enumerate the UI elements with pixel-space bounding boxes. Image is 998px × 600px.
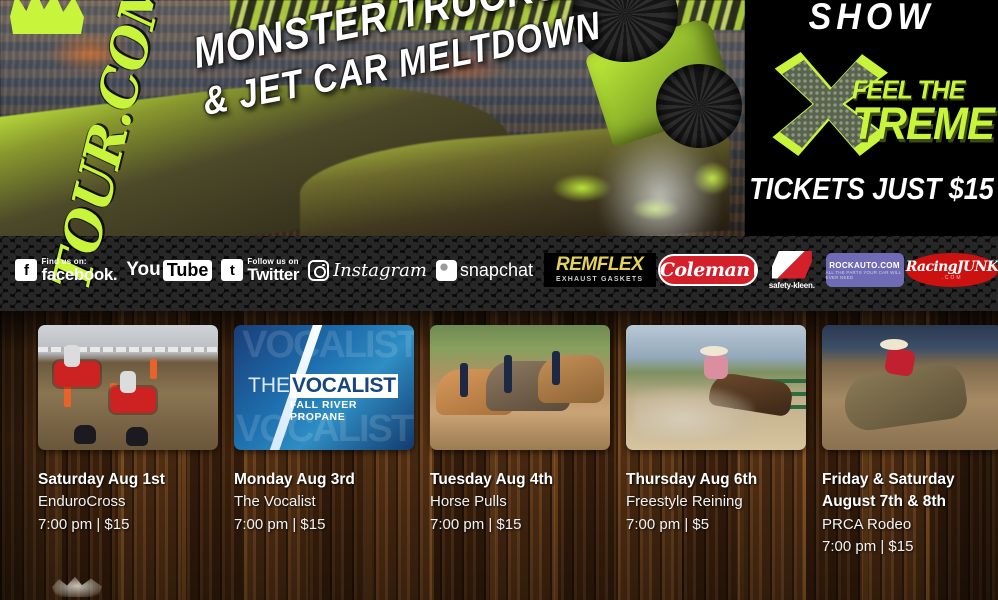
event-name: PRCA Rodeo <box>822 514 998 537</box>
cowboy-hat-icon <box>880 339 908 350</box>
sponsor-racingjunk[interactable]: RacingJUNK .COM <box>906 253 998 287</box>
safety-kleen-name: safety-kleen. <box>769 281 815 290</box>
rider-shirt-icon <box>704 355 728 379</box>
dust-cloud <box>634 387 754 439</box>
instagram-label: Instagram <box>333 260 427 281</box>
youtube-you-text: You <box>126 259 160 281</box>
green-splash-icon <box>10 0 84 34</box>
logo-treme-text: TREME <box>852 98 994 150</box>
instagram-link[interactable]: Instagram <box>308 260 427 281</box>
the-vocalist-thumbnail[interactable]: VOCALIST VOCALIST THE VOCALIST FALL RIVE… <box>234 325 414 450</box>
event-name: The Vocalist <box>234 491 414 514</box>
truck-tire-icon <box>656 64 742 148</box>
racingjunk-domain: .COM <box>941 275 962 281</box>
draft-horse-icon <box>538 355 604 403</box>
youtube-tube-text: Tube <box>163 260 213 281</box>
vocalist-the-text: THE <box>248 374 290 398</box>
snapchat-icon <box>436 260 457 281</box>
sponsor-remflex[interactable]: REMFLEX EXHAUST GASKETS <box>544 253 656 287</box>
ghost-text-top: VOCALIST <box>242 327 414 363</box>
spectator-helmet-icon <box>74 425 96 444</box>
event-date-second-line: August 7th & 8th <box>822 491 998 513</box>
social-and-sponsor-bar: f Find us on: facebook. You Tube t Follo… <box>0 244 998 296</box>
event-date: Tuesday Aug 4th <box>430 469 610 491</box>
event-card[interactable]: Tuesday Aug 4th Horse Pulls 7:00 pm | $1… <box>430 325 610 600</box>
facebook-icon: f <box>15 259 37 281</box>
tickets-price-text: TICKETS JUST $15 <box>745 172 998 207</box>
traffic-cone-icon <box>150 359 157 379</box>
event-time-price: 7:00 pm | $5 <box>626 514 806 537</box>
event-date: Friday & Saturday <box>822 469 998 491</box>
instagram-icon <box>308 260 329 281</box>
event-time-price: 7:00 pm | $15 <box>430 514 610 537</box>
vocalist-main-text: VOCALIST <box>290 374 398 398</box>
coleman-name: Coleman <box>660 259 750 281</box>
cowboy-hat-icon <box>700 346 728 356</box>
snapchat-label: snapchat <box>460 260 533 281</box>
snapchat-link[interactable]: snapchat <box>436 260 533 281</box>
youtube-link[interactable]: You Tube <box>126 259 212 281</box>
twitter-link[interactable]: t Follow us on Twitter <box>221 258 299 283</box>
facebook-label: facebook. <box>41 266 117 283</box>
racingjunk-name: RacingJUNK <box>906 259 998 275</box>
harness-strap <box>504 355 512 393</box>
show-word: SHOW <box>745 0 998 39</box>
twitter-label: Twitter <box>247 266 299 283</box>
event-time-price: 7:00 pm | $15 <box>234 514 414 537</box>
event-name: EnduroCross <box>38 491 218 514</box>
remflex-tagline: EXHAUST GASKETS <box>556 274 643 285</box>
rockauto-tagline: ALL THE PARTS YOUR CAR WILL EVER NEED <box>826 270 904 280</box>
event-date: Thursday Aug 6th <box>626 469 806 491</box>
promo-banner[interactable]: TOUR.COM MONSTER TRUCKS & JET CAR MELTDO… <box>0 0 998 311</box>
event-card[interactable]: VOCALIST VOCALIST THE VOCALIST FALL RIVE… <box>234 325 414 600</box>
event-name: Freestyle Reining <box>626 491 806 514</box>
harness-strap <box>460 363 468 397</box>
coleman-lantern-icon <box>754 263 756 278</box>
twitter-icon: t <box>221 259 243 281</box>
rider-shirt-icon <box>884 347 916 377</box>
event-date: Monday Aug 3rd <box>234 469 414 491</box>
rockauto-name: ROCKAUTO.COM <box>829 261 900 270</box>
event-cards-row: Saturday Aug 1st EnduroCross 7:00 pm | $… <box>0 311 998 600</box>
harness-strap <box>552 351 560 385</box>
rider-icon <box>120 371 136 393</box>
feel-the-xtreme-logo[interactable]: FEEL THE TREME <box>748 48 996 158</box>
rider-icon <box>64 345 80 367</box>
event-date: Saturday Aug 1st <box>38 469 218 491</box>
prca-rodeo-thumbnail[interactable] <box>822 325 998 450</box>
safety-kleen-icon <box>772 251 812 279</box>
endurocross-thumbnail[interactable] <box>38 325 218 450</box>
sponsor-coleman[interactable]: Coleman <box>658 254 758 286</box>
facebook-link[interactable]: f Find us on: facebook. <box>15 258 117 283</box>
remflex-name: REMFLEX <box>556 255 643 274</box>
event-card[interactable]: Thursday Aug 6th Freestyle Reining 7:00 … <box>626 325 806 600</box>
vocalist-sponsor-text: FALL RIVER PROPANE <box>290 399 414 423</box>
sponsor-safety-kleen[interactable]: safety-kleen. <box>760 247 824 293</box>
horse-pulls-thumbnail[interactable] <box>430 325 610 450</box>
freestyle-reining-thumbnail[interactable] <box>626 325 806 450</box>
event-time-price: 7:00 pm | $15 <box>822 536 998 559</box>
sponsor-rockauto[interactable]: ROCKAUTO.COM ALL THE PARTS YOUR CAR WILL… <box>826 253 904 287</box>
event-time-price: 7:00 pm | $15 <box>38 514 218 537</box>
event-card[interactable]: Saturday Aug 1st EnduroCross 7:00 pm | $… <box>38 325 218 600</box>
event-name: Horse Pulls <box>430 491 610 514</box>
event-card[interactable]: Friday & Saturday August 7th & 8th PRCA … <box>822 325 998 600</box>
spectator-helmet-icon <box>126 427 148 446</box>
